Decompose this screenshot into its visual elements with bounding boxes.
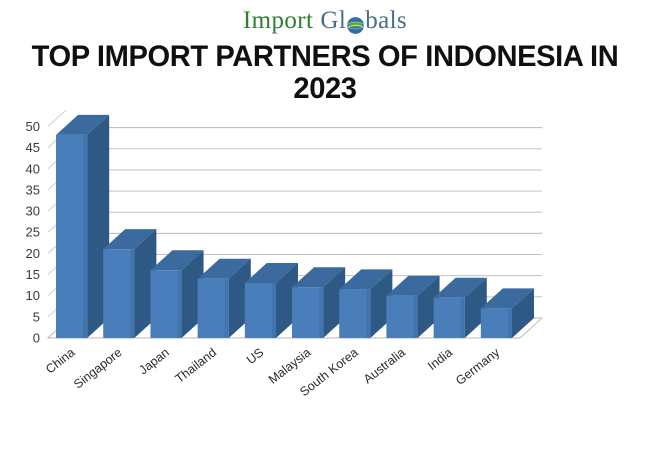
x-axis-tick-label: US <box>244 345 266 367</box>
y-axis-tick-label: 30 <box>26 204 40 219</box>
bar-chart: 05101520253035404550ChinaSingaporeJapanT… <box>0 110 650 440</box>
y-axis-tick-label: 50 <box>26 119 40 134</box>
y-axis-tick-label: 45 <box>26 140 40 155</box>
y-axis-tick-label: 0 <box>33 331 40 346</box>
bar-china <box>56 115 109 338</box>
bar-singapore <box>103 229 156 338</box>
x-axis-tick-label: Singapore <box>71 345 125 391</box>
y-axis-tick-label: 40 <box>26 161 40 176</box>
globe-icon <box>346 14 365 33</box>
brand-logo: Import Gl bals <box>0 2 650 40</box>
page-title: TOP IMPORT PARTNERS OF INDONESIA IN 2023 <box>10 41 641 104</box>
x-axis-tick-label: Thailand <box>173 345 219 386</box>
x-axis-tick-label: Germany <box>453 345 503 388</box>
x-axis-tick-label: Japan <box>136 345 171 377</box>
x-axis-tick-label: China <box>43 345 77 376</box>
y-axis-tick-label: 20 <box>26 246 40 261</box>
logo-word-import: Import <box>243 7 313 35</box>
x-axis-tick-label: India <box>425 345 455 373</box>
x-axis-tick-label: Australia <box>361 345 408 386</box>
logo-word-bals: bals <box>365 7 407 35</box>
logo-text: Import Gl bals <box>243 7 407 35</box>
y-axis-tick-label: 25 <box>26 225 40 240</box>
y-axis-tick-label: 15 <box>26 267 40 282</box>
y-axis-tick-label: 5 <box>33 309 40 324</box>
y-axis-tick-label: 10 <box>26 288 40 303</box>
chart-canvas: 05101520253035404550ChinaSingaporeJapanT… <box>0 110 650 440</box>
y-axis-tick-label: 35 <box>26 182 40 197</box>
bar-japan <box>150 250 203 338</box>
logo-word-gl: Gl <box>320 7 346 35</box>
